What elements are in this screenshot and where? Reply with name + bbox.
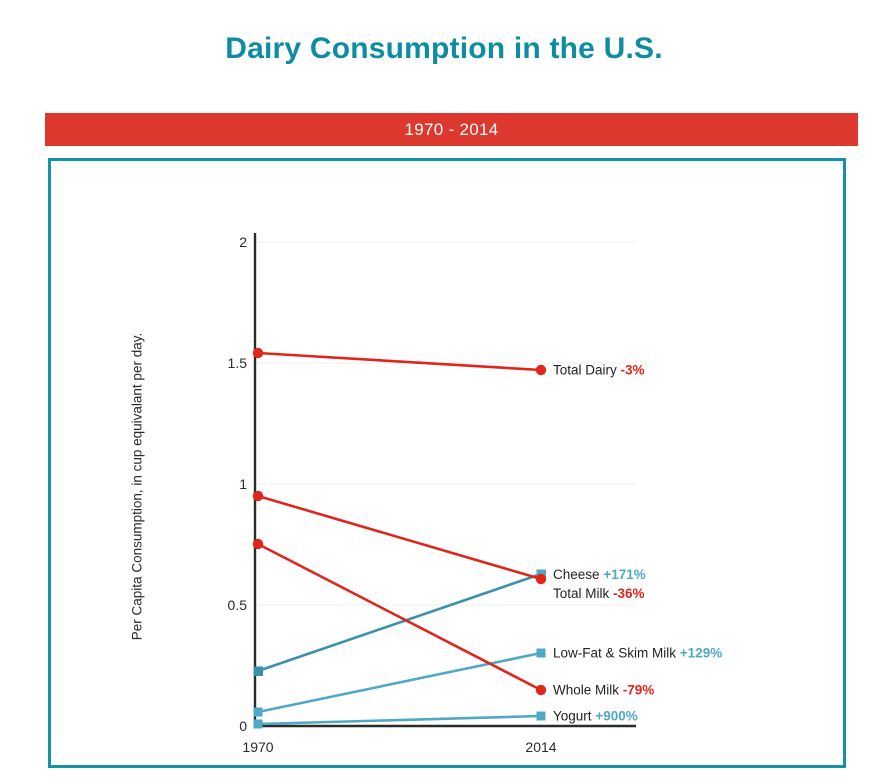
series-label-yogurt-change: +900%	[595, 708, 637, 723]
series-label-total-milk: Total Milk -36%	[553, 587, 645, 601]
series-yogurt-marker-2014	[537, 712, 546, 721]
series-label-whole-milk-name: Whole Milk	[553, 682, 619, 697]
series-total-milk	[253, 491, 546, 584]
series-whole-milk	[253, 539, 546, 695]
series-total-dairy	[253, 348, 546, 375]
subtitle-band: 1970 - 2014	[45, 113, 858, 146]
series-label-cheese-name: Cheese	[553, 567, 600, 582]
line-chart-svg	[51, 161, 849, 771]
series-label-lowfat-change: +129%	[680, 645, 722, 660]
series-label-cheese: Cheese +171%	[553, 568, 646, 582]
series-label-yogurt: Yogurt +900%	[553, 709, 638, 723]
series-label-lowfat-name: Low-Fat & Skim Milk	[553, 645, 676, 660]
series-whole-milk-marker-2014	[536, 685, 546, 695]
series-lowfat-marker-2014	[537, 649, 546, 658]
chart-panel: Per Capita Consumption, in cup equivalan…	[48, 158, 846, 768]
series-yogurt-line	[258, 716, 541, 724]
series-label-total-dairy: Total Dairy -3%	[553, 363, 645, 377]
series-total-milk-marker-1970	[253, 491, 263, 501]
series-label-whole-milk-change: -79%	[623, 682, 655, 697]
series-total-dairy-marker-2014	[536, 365, 546, 375]
series-yogurt-marker-1970	[254, 720, 263, 729]
series-total-milk-marker-2014	[536, 574, 546, 584]
series-total-dairy-line	[258, 353, 541, 370]
series-label-cheese-change: +171%	[603, 567, 645, 582]
page-title: Dairy Consumption in the U.S.	[0, 32, 888, 66]
series-label-total-dairy-change: -3%	[621, 362, 645, 377]
series-label-total-dairy-name: Total Dairy	[553, 362, 617, 377]
series-total-dairy-marker-1970	[253, 348, 263, 358]
subtitle-text: 1970 - 2014	[404, 120, 498, 140]
series-cheese-line	[258, 574, 541, 671]
series-label-whole-milk: Whole Milk -79%	[553, 683, 654, 697]
series-label-lowfat-skim-milk: Low-Fat & Skim Milk +129%	[553, 646, 722, 660]
series-lowfat-marker-1970	[254, 708, 263, 717]
plot-area: Per Capita Consumption, in cup equivalan…	[51, 161, 849, 771]
series-label-total-milk-name: Total Milk	[553, 586, 609, 601]
series-cheese-marker-1970	[254, 667, 264, 677]
series-label-total-milk-change: -36%	[613, 586, 645, 601]
series-label-yogurt-name: Yogurt	[553, 708, 592, 723]
series-whole-milk-marker-1970	[253, 539, 263, 549]
series-lowfat-line	[258, 653, 541, 712]
